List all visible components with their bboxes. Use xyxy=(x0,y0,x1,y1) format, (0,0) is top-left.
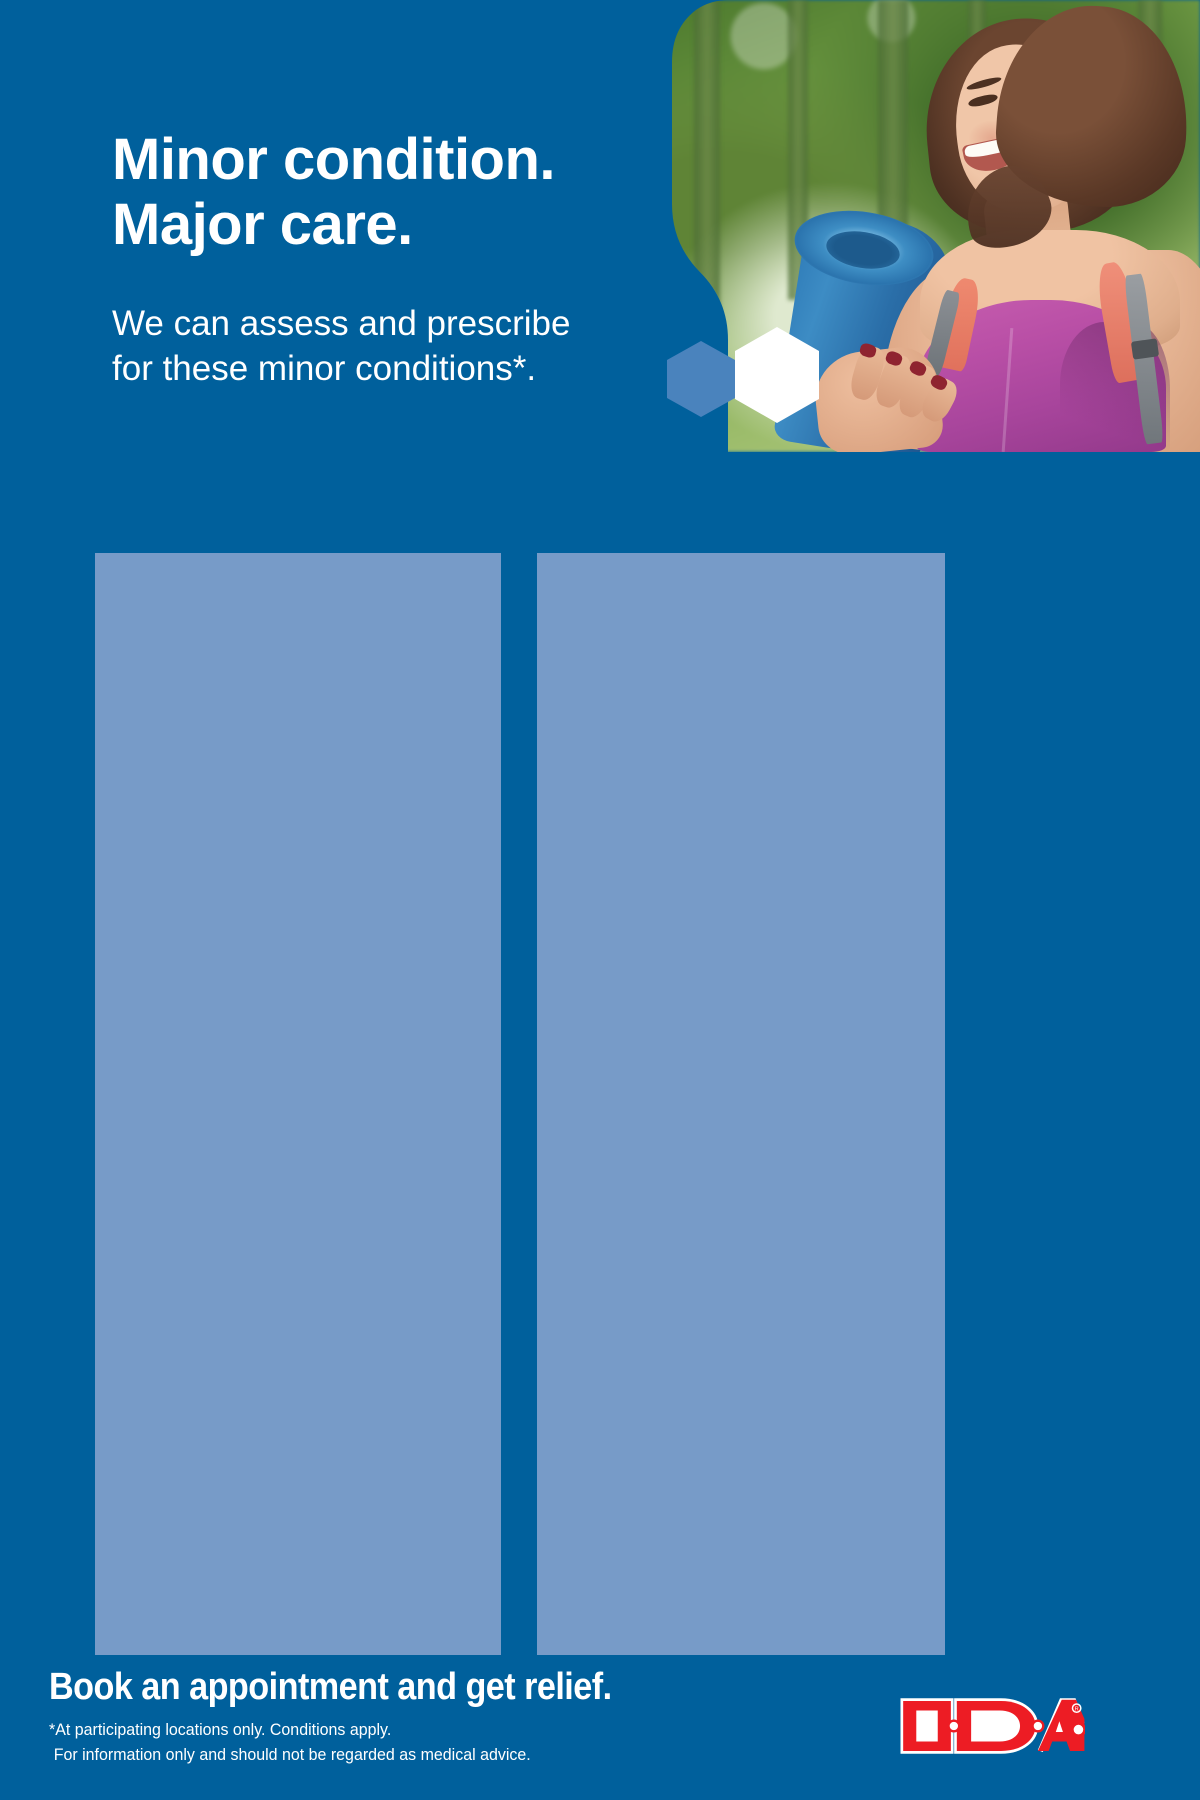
left-content-placeholder xyxy=(95,553,501,1655)
cta-heading: Book an appointment and get relief. xyxy=(49,1666,612,1709)
ida-logo: R xyxy=(899,1695,1085,1757)
headline-line-1: Minor condition. xyxy=(112,127,555,192)
svg-text:R: R xyxy=(1075,1707,1079,1713)
subtitle-line-1: We can assess and prescribe xyxy=(112,304,570,343)
page-subtitle: We can assess and prescribe for these mi… xyxy=(112,302,672,392)
backpack-buckle xyxy=(1131,338,1159,359)
legal-line-2: For information only and should not be r… xyxy=(49,1743,531,1768)
tree-trunk xyxy=(694,0,720,330)
hexagon-white-icon xyxy=(735,327,819,423)
legal-line-1: *At participating locations only. Condit… xyxy=(49,1718,531,1743)
page-title: Minor condition. Major care. xyxy=(112,128,672,258)
headline-line-2: Major care. xyxy=(112,192,413,257)
right-content-placeholder xyxy=(537,553,945,1655)
legal-disclaimer: *At participating locations only. Condit… xyxy=(49,1718,531,1767)
hexagon-accent-icon xyxy=(667,341,735,417)
subtitle-line-2: for these minor conditions*. xyxy=(112,349,536,388)
